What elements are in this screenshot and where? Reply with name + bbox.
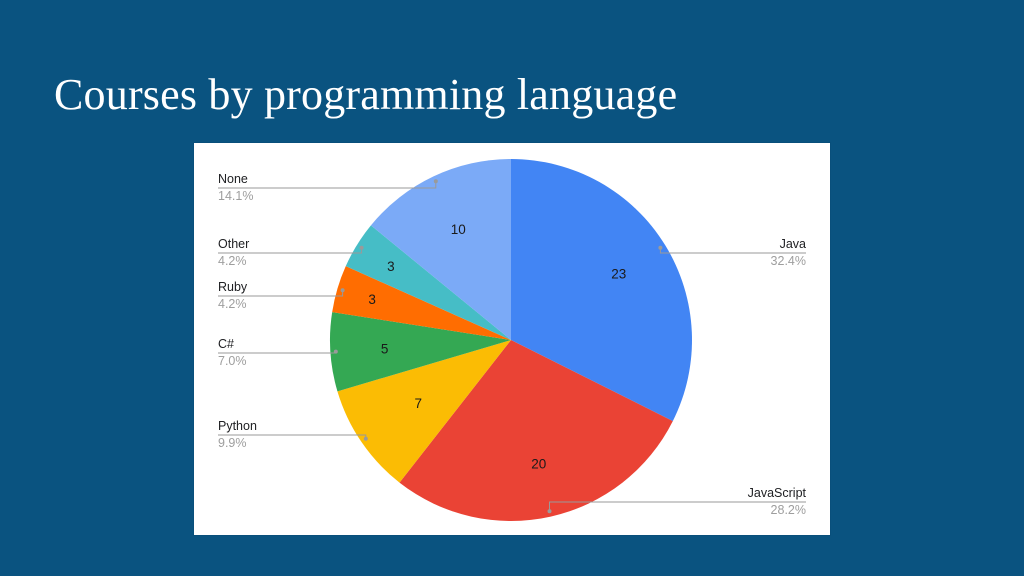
pie-callout-percent: 7.0% [218,354,247,368]
pie-chart[interactable]: 2320753310 Java32.4%JavaScript28.2%Pytho… [194,143,830,535]
pie-callout-percent: 4.2% [218,297,247,311]
pie-callout-name: Python [218,419,257,433]
pie-slices [330,159,692,521]
pie-callout-percent: 14.1% [218,189,253,203]
pie-leader-dot [360,246,364,250]
pie-callout-percent: 28.2% [771,503,806,517]
presentation-slide: Courses by programming language 23207533… [0,0,1024,576]
pie-leader-dot [434,179,438,183]
pie-callout-percent: 9.9% [218,436,247,450]
pie-callout-name: Other [218,237,249,251]
pie-callout-percent: 32.4% [771,254,806,268]
pie-leader-dot [341,288,345,292]
pie-leader-dot [548,509,552,513]
pie-leader-dot [334,350,338,354]
pie-slice-value: 23 [611,266,626,281]
pie-callout-name: Java [780,237,806,251]
pie-callout-name: Ruby [218,280,248,294]
pie-slice-value: 20 [531,457,546,472]
pie-slice-value: 3 [368,292,376,307]
pie-slice-value: 10 [451,222,466,237]
pie-callout-name: C# [218,337,234,351]
page-title: Courses by programming language [54,68,677,122]
chart-card: 2320753310 Java32.4%JavaScript28.2%Pytho… [194,143,830,535]
pie-slice-value: 3 [387,259,395,274]
pie-callout-name: None [218,172,248,186]
pie-callout-percent: 4.2% [218,254,247,268]
pie-leader-dot [364,437,368,441]
pie-callout-name: JavaScript [748,486,807,500]
pie-leader-line [218,352,336,353]
pie-leader-line [218,181,436,188]
pie-slice-value: 5 [381,341,389,356]
pie-leader-dot [658,246,662,250]
pie-slice-value: 7 [414,396,422,411]
